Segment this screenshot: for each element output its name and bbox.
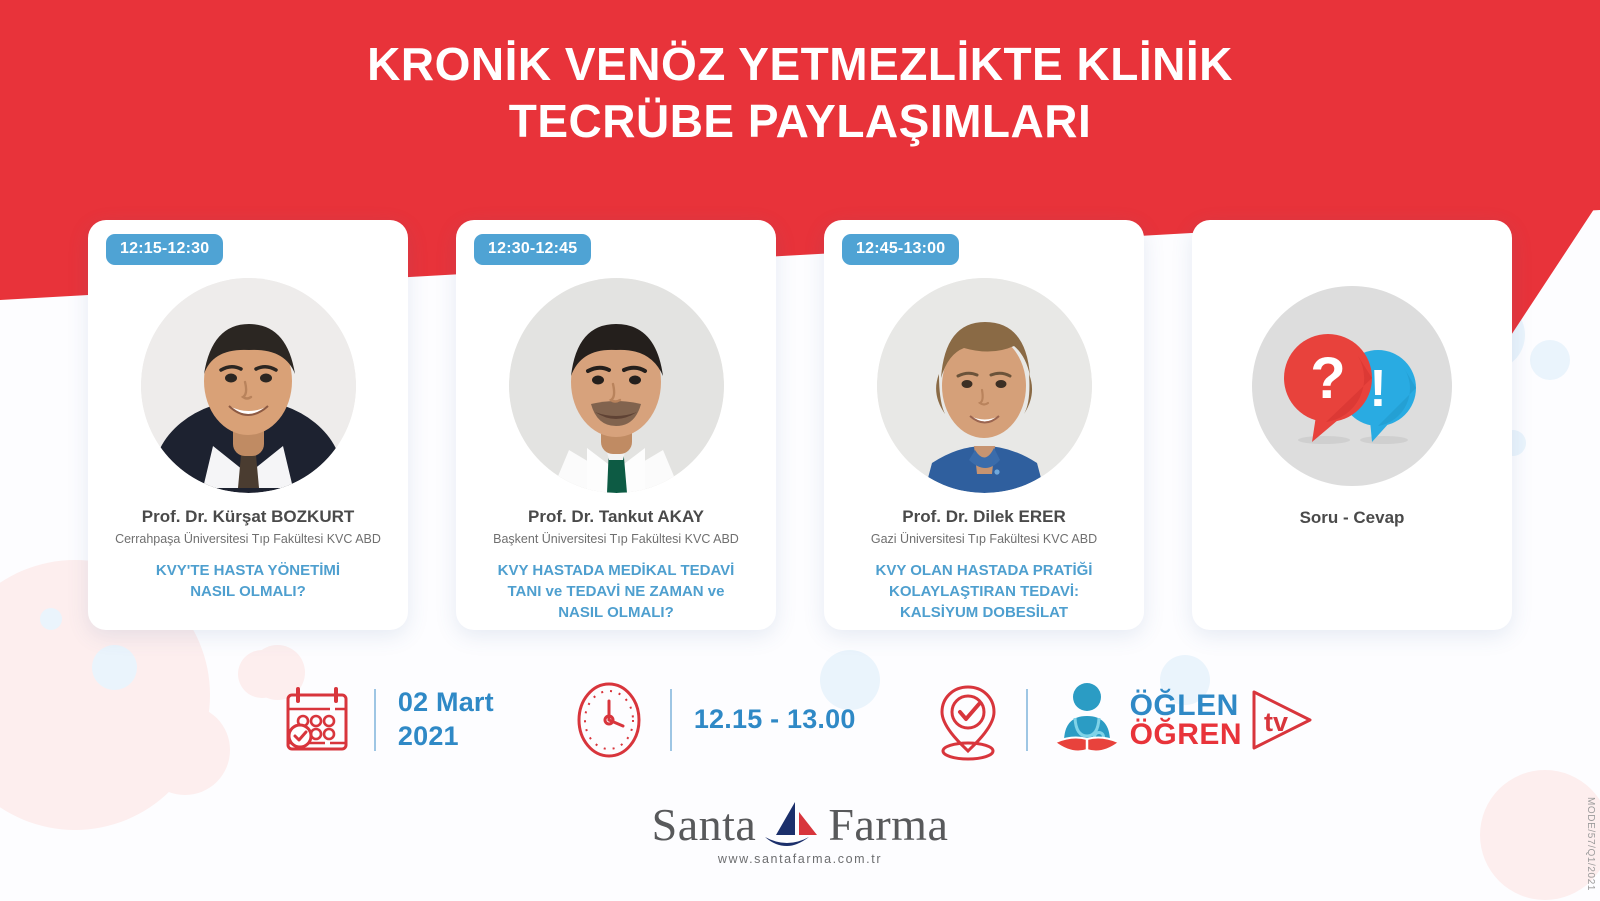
event-date-line-1: 02 Mart — [398, 686, 494, 720]
time-badge: 12:45-13:00 — [842, 234, 959, 265]
decor-blob-5 — [40, 608, 62, 630]
speaker-affiliation: Gazi Üniversitesi Tıp Fakültesi KVC ABD — [871, 532, 1097, 547]
speaker-name: Prof. Dr. Tankut AKAY — [528, 507, 704, 527]
topic-line: TANI ve TEDAVİ NE ZAMAN ve — [498, 581, 735, 602]
topic-line: NASIL OLMALI? — [498, 602, 735, 623]
calendar-icon — [282, 683, 352, 757]
event-date: 02 Mart 2021 — [398, 686, 494, 754]
time-badge: 12:30-12:45 — [474, 234, 591, 265]
speaker-affiliation: Cerrahpaşa Üniversitesi Tıp Fakültesi KV… — [115, 532, 381, 547]
topic-line: KVY HASTADA MEDİKAL TEDAVİ — [498, 560, 735, 581]
title-line-2: TECRÜBE PAYLAŞIMLARI — [0, 93, 1600, 150]
time-group: 12.15 - 13.00 — [570, 679, 856, 761]
speaker-name: Prof. Dr. Dilek ERER — [902, 507, 1065, 527]
santa-farma-logo[interactable]: Santa Farma www.santafarma.com.tr — [0, 798, 1600, 866]
farma-word: Farma — [828, 798, 948, 851]
qa-label: Soru - Cevap — [1300, 508, 1405, 528]
santa-farma-wordmark: Santa Farma — [652, 798, 949, 851]
time-badge: 12:15-12:30 — [106, 234, 223, 265]
webinar-poster: KRONİK VENÖZ YETMEZLİKTE KLİNİK TECRÜBE … — [0, 0, 1600, 901]
event-date-line-2: 2021 — [398, 720, 494, 754]
topic-line: KOLAYLAŞTIRAN TEDAVİ: — [876, 581, 1093, 602]
speaker-name: Prof. Dr. Kürşat BOZKURT — [142, 507, 355, 527]
date-group: 02 Mart 2021 — [282, 683, 494, 757]
platform-group: ÖĞLEN ÖĞREN tv — [932, 679, 1319, 761]
speaker-card[interactable]: 12:45-13:00 — [824, 220, 1144, 630]
speaker-photo — [141, 278, 356, 493]
page-title: KRONİK VENÖZ YETMEZLİKTE KLİNİK TECRÜBE … — [0, 36, 1600, 150]
speaker-topic: KVY'TE HASTA YÖNETİMİ NASIL OLMALI? — [144, 560, 352, 603]
speaker-card[interactable]: 12:30-12:45 — [456, 220, 776, 630]
speaker-topic: KVY HASTADA MEDİKAL TEDAVİ TANI ve TEDAV… — [486, 560, 747, 624]
santa-farma-url[interactable]: www.santafarma.com.tr — [0, 852, 1600, 866]
location-pin-check-icon — [932, 679, 1004, 761]
svg-text:!: ! — [1369, 360, 1386, 418]
speaker-card[interactable]: 12:15-12:30 — [88, 220, 408, 630]
sailboat-icon — [759, 799, 825, 851]
qa-card[interactable]: ! ? Soru - Cevap — [1192, 220, 1512, 630]
qa-icon-circle: ! ? — [1252, 286, 1452, 486]
divider — [670, 689, 672, 751]
speaker-photo — [877, 278, 1092, 493]
speaker-photo — [509, 278, 724, 493]
topic-line: NASIL OLMALI? — [156, 581, 340, 602]
oglen-word: ÖĞLEN — [1130, 691, 1243, 720]
oglen-ogren-text: ÖĞLEN ÖĞREN — [1130, 691, 1243, 750]
doctor-reading-icon — [1050, 680, 1124, 760]
topic-line: KVY'TE HASTA YÖNETİMİ — [156, 560, 340, 581]
speaker-affiliation: Başkent Üniversitesi Tıp Fakültesi KVC A… — [493, 532, 739, 547]
oglen-ogren-tv-logo[interactable]: ÖĞLEN ÖĞREN tv — [1050, 680, 1319, 760]
clock-icon — [570, 679, 648, 761]
ogren-word: ÖĞREN — [1130, 720, 1243, 749]
tv-play-icon[interactable]: tv — [1246, 684, 1318, 756]
divider — [1026, 689, 1028, 751]
svg-text:?: ? — [1310, 346, 1345, 411]
title-line-1: KRONİK VENÖZ YETMEZLİKTE KLİNİK — [0, 36, 1600, 93]
speaker-cards: 12:15-12:30 — [88, 220, 1512, 630]
santa-word: Santa — [652, 798, 757, 851]
topic-line: KALSİYUM DOBESİLAT — [876, 602, 1093, 623]
event-time: 12.15 - 13.00 — [694, 703, 856, 737]
divider — [374, 689, 376, 751]
event-info-bar: 02 Mart 2021 12.15 - 13.00 — [0, 665, 1600, 775]
tv-label: tv — [1264, 707, 1288, 737]
speech-bubbles-icon: ! ? — [1272, 316, 1432, 456]
regulatory-code: MODE/57/Q1/2021 — [1585, 797, 1596, 891]
decor-blob-8 — [1530, 340, 1570, 380]
topic-line: KVY OLAN HASTADA PRATİĞİ — [876, 560, 1093, 581]
speaker-topic: KVY OLAN HASTADA PRATİĞİ KOLAYLAŞTIRAN T… — [864, 560, 1105, 624]
